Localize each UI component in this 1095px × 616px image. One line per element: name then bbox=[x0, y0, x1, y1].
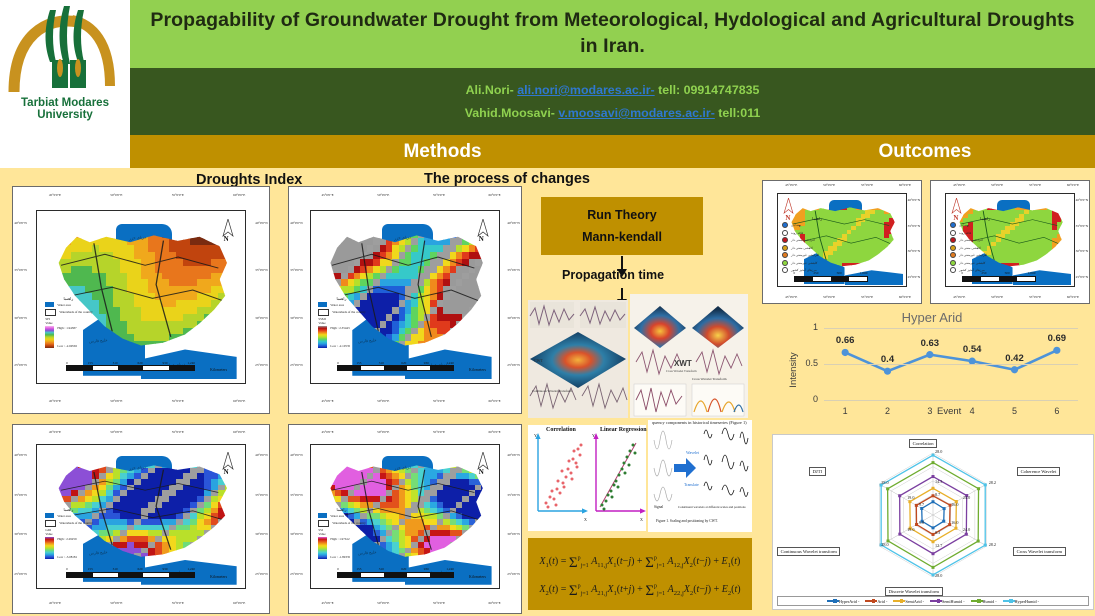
map-ssi: دریای خزرخلیج فارسدریای عمان N راهنما Wa… bbox=[288, 424, 522, 614]
svg-text:Cross Wavelet Transform: Cross Wavelet Transform bbox=[692, 377, 727, 381]
var-equations-box: X1(t) = Σpj=1 A11,jX1(t−j) + Σpj=1 A12,j… bbox=[528, 538, 752, 610]
methods-flow-box: Run Theory Mann-kendall bbox=[541, 197, 703, 255]
water-swatch-icon bbox=[318, 302, 327, 307]
legend-water-text: Water area bbox=[330, 303, 344, 307]
equation-1: X1(t) = Σpj=1 A11,jX1(t−j) + Σpj=1 A12,j… bbox=[539, 546, 740, 575]
svg-text:Figure 1. Scaling and position: Figure 1. Scaling and positioning by CWT… bbox=[656, 519, 718, 523]
lon-tick-top: 60°0'0"E bbox=[489, 430, 501, 434]
color-ramp-icon bbox=[318, 326, 327, 348]
lat-tick-left: 30°0'0"N bbox=[290, 316, 303, 320]
north-arrow-icon: N bbox=[477, 219, 490, 245]
lat-tick-right: 25°0'0"N bbox=[507, 572, 520, 576]
author-1-tel: tell: 09914747835 bbox=[658, 83, 759, 97]
radar-legend-label: SemiArid - bbox=[905, 599, 924, 604]
radar-tick-value: 16.0 bbox=[951, 520, 958, 525]
water-swatch-icon bbox=[45, 302, 54, 307]
watershed-swatch-icon bbox=[318, 520, 329, 527]
lat-tick-left: 40°0'0"N bbox=[290, 453, 303, 457]
lat-tick-right: 35°0'0"N bbox=[908, 224, 921, 228]
scalebar-unit: Kilometers bbox=[469, 368, 486, 372]
title-banner: Propagability of Groundwater Drought fro… bbox=[130, 0, 1095, 68]
scalebar-tick: 310 bbox=[113, 567, 118, 571]
lat-tick-right: 30°0'0"N bbox=[507, 532, 520, 536]
radar-tick-value: 24.0 bbox=[963, 495, 970, 500]
lat-tick-left: 40°0'0"N bbox=[14, 221, 27, 225]
lat-tick-left: 25°0'0"N bbox=[290, 363, 303, 367]
radar-tick-value: 28.2 bbox=[989, 542, 996, 547]
lon-tick-top: 55°0'0"E bbox=[172, 193, 184, 197]
legend-low: Low : -1.89335 bbox=[330, 555, 350, 559]
outcome-legend-text: افزایشی غیرمعنی دار bbox=[959, 253, 987, 257]
svg-text:Continuous Wavelet Transform: Continuous Wavelet Transform bbox=[532, 389, 572, 393]
lon-tick-bottom: 60°0'0"E bbox=[489, 399, 501, 403]
map-spi: دریای خزرخلیج فارسدریای عمان N راهنما Wa… bbox=[12, 186, 270, 414]
lat-tick-left: 40°0'0"N bbox=[14, 453, 27, 457]
lon-tick-top: 60°0'0"E bbox=[233, 430, 245, 434]
poster-root: Tarbiat Modares University Propagability… bbox=[0, 0, 1095, 616]
contact-row-2: Vahid.Moosavi- v.moosavi@modares.ac.ir- … bbox=[465, 106, 761, 120]
propagation-radar-chart: CorrelationCoherence WaveletCross Wavele… bbox=[772, 434, 1094, 610]
legend-swatch-icon bbox=[782, 222, 788, 228]
scalebar-tick: 0 bbox=[66, 567, 68, 571]
scalebar-tick: 0 bbox=[962, 271, 964, 275]
legend-water-text: Water area bbox=[57, 514, 71, 518]
legend-marker-icon bbox=[833, 599, 836, 602]
scalebar-tick: 1,000 bbox=[1028, 271, 1036, 275]
chart-xtick: 2 bbox=[878, 406, 898, 416]
lon-tick-bottom: 60°0'0"E bbox=[1067, 295, 1079, 299]
radar-axis-label: DJTI bbox=[809, 467, 826, 476]
map-canvas: Nراهنما پهنه آبی فاقد روند افزایشی معنی … bbox=[777, 193, 907, 287]
lat-tick-left: 30°0'0"N bbox=[14, 532, 27, 536]
legend-low: Low : -2.69565 bbox=[57, 344, 77, 348]
svg-text:X: X bbox=[640, 517, 643, 522]
scalebar-tick: 155 bbox=[88, 361, 93, 365]
chart-data-label: 0.54 bbox=[955, 344, 989, 355]
scalebar-unit: Kilometers bbox=[469, 575, 486, 579]
lon-tick-top: 60°0'0"E bbox=[1067, 183, 1079, 187]
lon-tick-bottom: 55°0'0"E bbox=[433, 399, 445, 403]
section-banner-outcomes: Outcomes bbox=[755, 135, 1095, 168]
svg-text:Y: Y bbox=[592, 433, 595, 438]
lat-tick-right: 25°0'0"N bbox=[255, 363, 268, 367]
lon-tick-top: 45°0'0"E bbox=[321, 193, 333, 197]
flow-mann-kendall: Mann-kendall bbox=[582, 230, 662, 244]
lon-tick-bottom: 55°0'0"E bbox=[861, 295, 873, 299]
legend-swatch-icon bbox=[950, 260, 956, 266]
radar-tick-value: 28.2 bbox=[989, 480, 996, 485]
lat-tick-right: 25°0'0"N bbox=[1076, 275, 1089, 279]
map-legend: راهنما Water area Watersheds of the coun… bbox=[318, 507, 408, 560]
radar-legend-item: SemiHumid - bbox=[930, 599, 965, 604]
legend-high: High : 2.35443 bbox=[330, 326, 350, 330]
scalebar-tick: 500 bbox=[837, 271, 842, 275]
outcome-legend-text: کاهشی معنی دار bbox=[959, 246, 981, 250]
radar-tick-value: 28.0 bbox=[935, 573, 942, 578]
scatter-title-correlation: Correlation bbox=[546, 427, 576, 433]
lat-tick-right: 25°0'0"N bbox=[908, 275, 921, 279]
lon-tick-bottom: 50°0'0"E bbox=[991, 295, 1003, 299]
scalebar-tick: 250 bbox=[981, 271, 986, 275]
north-arrow-icon: N bbox=[477, 452, 490, 478]
outcome-legend-row: کاهشی معنی دار bbox=[782, 245, 853, 251]
equation-2: X2(t) = Σpj=1 A21,jX1(t+j) + Σpj=1 A22,j… bbox=[539, 574, 740, 603]
svg-text:Wavelet: Wavelet bbox=[686, 450, 700, 455]
lon-tick-bottom: 50°0'0"E bbox=[377, 399, 389, 403]
outcome-trend-map-2: Nراهنما پهنه آبی فاقد روند افزایشی معنی … bbox=[930, 180, 1090, 304]
cwt-note: quency components in historical timeseri… bbox=[652, 420, 752, 425]
legend-swatch-icon bbox=[950, 252, 956, 258]
outcome-legend-text: کاهشی معنی دار bbox=[791, 246, 813, 250]
lat-tick-left: 25°0'0"N bbox=[14, 572, 27, 576]
chart-ytick: 1 bbox=[802, 322, 818, 332]
legend-swatch-icon bbox=[950, 237, 956, 243]
lon-tick-bottom: 60°0'0"E bbox=[489, 601, 501, 605]
radar-legend-label: HyperArid - bbox=[839, 599, 860, 604]
chart-data-label: 0.63 bbox=[913, 338, 947, 349]
legend-value-label: Value bbox=[45, 321, 145, 325]
lon-tick-top: 50°0'0"E bbox=[377, 430, 389, 434]
lat-tick-right: 35°0'0"N bbox=[507, 493, 520, 497]
legend-high: High : 2.29259 bbox=[57, 537, 77, 541]
radar-tick-value: 19.0 bbox=[907, 527, 914, 532]
lon-tick-bottom: 45°0'0"E bbox=[953, 295, 965, 299]
lat-tick-right: 30°0'0"N bbox=[255, 316, 268, 320]
legend-watershed-row: Watersheds of the country bbox=[45, 520, 145, 527]
chart-xtick: 6 bbox=[1047, 406, 1067, 416]
lat-tick-left: 30°0'0"N bbox=[14, 316, 27, 320]
radar-tick-value: 28.0 bbox=[935, 449, 942, 454]
legend-swatch-icon bbox=[782, 245, 788, 251]
svg-text:Translate: Translate bbox=[684, 482, 699, 487]
legend-swatch-icon bbox=[950, 230, 956, 236]
radar-axis-label: Correlation bbox=[909, 439, 937, 448]
legend-swatch-icon bbox=[782, 252, 788, 258]
subhead-process-of-changes: The process of changes bbox=[424, 171, 590, 187]
outcome-legend-row: افزایشی معنی دار bbox=[782, 237, 853, 243]
radar-legend-item: Arid - bbox=[865, 599, 887, 604]
lon-tick-top: 60°0'0"E bbox=[489, 193, 501, 197]
legend-title: راهنما bbox=[950, 216, 990, 221]
radar-tick-value: 28.0 bbox=[881, 480, 888, 485]
radar-tick-value: 19.0 bbox=[907, 495, 914, 500]
scalebar-tick: 1,240 bbox=[187, 567, 195, 571]
lon-tick-top: 55°0'0"E bbox=[861, 183, 873, 187]
water-label: دریای خزر bbox=[394, 234, 411, 240]
outcome-trend-map-1: Nراهنما پهنه آبی فاقد روند افزایشی معنی … bbox=[762, 180, 922, 304]
radar-legend-item: Humid - bbox=[971, 599, 997, 604]
flow-arrow-2 bbox=[621, 288, 623, 300]
radar-legend-item: HyperHumid - bbox=[1003, 599, 1039, 604]
lat-tick-right: 40°0'0"N bbox=[507, 453, 520, 457]
svg-text:Cross Wavelet Transform: Cross Wavelet Transform bbox=[666, 369, 697, 373]
legend-ramp-row: High : 1.94387 Low : -2.69565 bbox=[45, 326, 145, 348]
scalebar-unit: Kilometers bbox=[210, 368, 227, 372]
svg-text:CWT: CWT bbox=[534, 358, 543, 363]
legend-marker-icon bbox=[900, 599, 903, 602]
outcome-legend-row: افزایشی غیرمعنی دار bbox=[782, 252, 853, 258]
logo-line1: Tarbiat Modares bbox=[21, 97, 109, 109]
lat-tick-right: 40°0'0"N bbox=[255, 453, 268, 457]
legend-watershed-row: Watersheds of the country bbox=[318, 309, 408, 316]
legend-title: راهنما bbox=[318, 296, 346, 301]
map-sdi: دریای خزرخلیج فارسدریای عمان N راهنما Wa… bbox=[288, 186, 522, 414]
legend-swatch-icon bbox=[950, 222, 956, 228]
chart-gridline bbox=[824, 328, 1078, 329]
lon-tick-bottom: 45°0'0"E bbox=[321, 601, 333, 605]
legend-watershed-text: Watersheds of the country bbox=[59, 310, 92, 314]
logo-art-icon bbox=[6, 2, 124, 97]
lat-tick-right: 40°0'0"N bbox=[908, 198, 921, 202]
radar-tick-value: 14.3 bbox=[935, 479, 942, 484]
color-ramp-icon bbox=[45, 537, 54, 559]
lon-tick-top: 55°0'0"E bbox=[433, 193, 445, 197]
radar-tick-value: 9.7 bbox=[919, 502, 924, 507]
lon-tick-bottom: 45°0'0"E bbox=[321, 399, 333, 403]
scalebar-tick: 0 bbox=[337, 567, 339, 571]
section-banner-methods: Methods bbox=[130, 135, 755, 168]
radar-plot-area: CorrelationCoherence WaveletCross Wavele… bbox=[773, 435, 1093, 609]
lon-tick-bottom: 55°0'0"E bbox=[172, 601, 184, 605]
cwt-figure-image: CWT Continuous Wavelet Transform bbox=[528, 300, 628, 418]
radar-tick-value: 9.8 bbox=[919, 520, 924, 525]
outcome-legend-row: فاقد روند bbox=[782, 230, 853, 236]
color-ramp-icon bbox=[318, 537, 327, 559]
svg-text:XWT: XWT bbox=[674, 359, 692, 368]
legend-water-row: Water area bbox=[45, 513, 145, 518]
legend-swatch-icon bbox=[782, 237, 788, 243]
scale-bar: 02505001,000 bbox=[794, 271, 868, 281]
scale-bar: 01553106209301,240 Kilometers bbox=[66, 361, 195, 371]
scale-bar: 01553106209301,240 Kilometers bbox=[337, 567, 454, 577]
lon-tick-bottom: 50°0'0"E bbox=[110, 601, 122, 605]
logo-text: Tarbiat Modares University bbox=[21, 97, 109, 122]
lon-tick-bottom: 60°0'0"E bbox=[899, 295, 911, 299]
var-equations: X1(t) = Σpj=1 A11,jX1(t−j) + Σpj=1 A12,j… bbox=[539, 546, 740, 603]
legend-water-row: Water area bbox=[45, 302, 145, 307]
outcomes-title: Outcomes bbox=[879, 141, 972, 163]
legend-marker-icon bbox=[1009, 599, 1012, 602]
lat-tick-right: 30°0'0"N bbox=[1076, 249, 1089, 253]
legend-ramp-row: High : 1.97612 Low : -1.89335 bbox=[318, 537, 408, 559]
scalebar-tick: 1,240 bbox=[446, 567, 454, 571]
radar-tick-value: 12.7 bbox=[935, 543, 942, 548]
chart-data-label: 0.66 bbox=[828, 335, 862, 346]
correlation-regression-figure: Y Y X X bbox=[528, 425, 646, 531]
north-arrow-icon: N bbox=[222, 219, 235, 245]
lon-tick-top: 50°0'0"E bbox=[823, 183, 835, 187]
legend-water-text: Water area bbox=[57, 303, 71, 307]
radar-legend-label: HyperHumid - bbox=[1015, 599, 1040, 604]
radar-tick-value: 24.0 bbox=[963, 527, 970, 532]
lon-tick-top: 60°0'0"E bbox=[233, 193, 245, 197]
radar-axis-label: Cross Wavelet transform bbox=[1013, 547, 1066, 556]
outcome-legend-row: کاهشی غیرمعنی دار bbox=[782, 260, 853, 266]
legend-value-label: Value bbox=[318, 532, 408, 536]
scatter-title-regression: Linear Regression bbox=[600, 427, 647, 433]
radar-axis-label: Coherence Wavelet bbox=[1017, 467, 1060, 476]
outcome-legend-row: کاهشی معنی دار bbox=[950, 245, 1021, 251]
lon-tick-bottom: 55°0'0"E bbox=[172, 399, 184, 403]
map-legend: راهنما Water area Watersheds of the coun… bbox=[45, 507, 145, 560]
lon-tick-top: 50°0'0"E bbox=[110, 430, 122, 434]
lat-tick-left: 25°0'0"N bbox=[14, 363, 27, 367]
lat-tick-left: 35°0'0"N bbox=[290, 493, 303, 497]
legend-title: راهنما bbox=[318, 507, 346, 512]
watershed-swatch-icon bbox=[45, 520, 56, 527]
lon-tick-bottom: 50°0'0"E bbox=[823, 295, 835, 299]
scalebar-tick: 930 bbox=[162, 567, 167, 571]
lat-tick-right: 25°0'0"N bbox=[507, 363, 520, 367]
scale-bar: 01553106209301,240 Kilometers bbox=[66, 567, 195, 577]
poster-header: Tarbiat Modares University Propagability… bbox=[0, 0, 1095, 135]
radar-axis-label: Continuous Wavelet transform bbox=[777, 547, 840, 556]
lat-tick-left: 30°0'0"N bbox=[290, 532, 303, 536]
map-legend: راهنما Water area Watersheds of the coun… bbox=[318, 296, 408, 349]
map-canvas: دریای خزرخلیج فارسدریای عمان N راهنما Wa… bbox=[36, 210, 246, 384]
lon-tick-top: 45°0'0"E bbox=[321, 430, 333, 434]
outcome-legend-row: کاهشی غیرمعنی دار bbox=[950, 260, 1021, 266]
water-label: دریای خزر bbox=[128, 464, 145, 470]
svg-text:Constituent wavelets at differ: Constituent wavelets at different scales… bbox=[678, 505, 746, 509]
outcome-legend-row: فاقد روند bbox=[950, 230, 1021, 236]
legend-marker-icon bbox=[937, 599, 940, 602]
chart-gridline bbox=[824, 400, 1078, 401]
outcome-legend-text: فاقد روند bbox=[791, 231, 803, 235]
author-1-email-link[interactable]: ali.nori@modares.ac.ir- bbox=[517, 83, 654, 97]
legend-ramp-row: High : 2.29259 Low : -3.08181 bbox=[45, 537, 145, 559]
lon-tick-top: 50°0'0"E bbox=[991, 183, 1003, 187]
scalebar-tick: 620 bbox=[138, 567, 143, 571]
lat-tick-right: 40°0'0"N bbox=[1076, 198, 1089, 202]
legend-marker-icon bbox=[872, 599, 875, 602]
lon-tick-top: 60°0'0"E bbox=[899, 183, 911, 187]
legend-swatch-icon bbox=[782, 267, 788, 273]
legend-high: High : 1.97612 bbox=[330, 537, 350, 541]
lon-tick-top: 55°0'0"E bbox=[172, 430, 184, 434]
svg-text:X: X bbox=[584, 517, 587, 522]
map-canvas: دریای خزرخلیج فارسدریای عمان N راهنما Wa… bbox=[310, 210, 500, 384]
author-1-name: Ali.Nori- bbox=[466, 83, 514, 97]
lon-tick-top: 50°0'0"E bbox=[377, 193, 389, 197]
legend-low: Low : -2.10535 bbox=[330, 344, 350, 348]
outcome-legend-text: پهنه آبی bbox=[959, 223, 969, 227]
lon-tick-bottom: 45°0'0"E bbox=[49, 601, 61, 605]
scalebar-tick: 310 bbox=[379, 567, 384, 571]
lat-tick-left: 35°0'0"N bbox=[290, 268, 303, 272]
svg-text:Y: Y bbox=[534, 433, 537, 438]
watershed-swatch-icon bbox=[45, 309, 56, 316]
author-2-tel: tell:011 bbox=[718, 106, 760, 120]
lat-tick-right: 35°0'0"N bbox=[1076, 224, 1089, 228]
lat-tick-right: 30°0'0"N bbox=[255, 532, 268, 536]
legend-watershed-row: Watersheds of the country bbox=[318, 520, 408, 527]
lat-tick-right: 30°0'0"N bbox=[908, 249, 921, 253]
legend-water-text: Water area bbox=[330, 514, 344, 518]
water-label: دریای خزر bbox=[128, 234, 145, 240]
scalebar-tick: 0 bbox=[337, 361, 339, 365]
outcome-legend-text: افزایشی معنی دار bbox=[959, 238, 983, 242]
scale-bar: 02505001,000 bbox=[962, 271, 1036, 281]
hyper-arid-line-chart: Hyper Arid Intensity 00.51123456Event0.6… bbox=[772, 308, 1092, 428]
map-canvas: دریای خزرخلیج فارسدریای عمان N راهنما Wa… bbox=[310, 444, 500, 589]
color-ramp-icon bbox=[45, 326, 54, 348]
legend-swatch-icon bbox=[950, 245, 956, 251]
legend-title: راهنما bbox=[45, 296, 73, 301]
scalebar-tick: 155 bbox=[356, 361, 361, 365]
legend-watershed-text: Watersheds of the country bbox=[59, 521, 92, 525]
radar-axis-label: Discrete Wavelet transform bbox=[885, 587, 943, 596]
legend-swatch-icon bbox=[950, 267, 956, 273]
outcome-legend-row: افزایشی معنی دار bbox=[950, 237, 1021, 243]
lon-tick-bottom: 55°0'0"E bbox=[1029, 295, 1041, 299]
lat-tick-right: 25°0'0"N bbox=[255, 572, 268, 576]
flow-run-theory: Run Theory bbox=[587, 208, 656, 222]
outcome-legend-text: پهنه آبی bbox=[791, 223, 801, 227]
lat-tick-left: 35°0'0"N bbox=[14, 268, 27, 272]
chart-title: Hyper Arid bbox=[772, 310, 1092, 325]
lon-tick-bottom: 60°0'0"E bbox=[233, 399, 245, 403]
scalebar-tick: 310 bbox=[113, 361, 118, 365]
author-2-email-link[interactable]: v.moosavi@modares.ac.ir- bbox=[558, 106, 714, 120]
lat-tick-right: 40°0'0"N bbox=[507, 221, 520, 225]
cwt-scaling-figure: Wavelet Translate Signal Constituent wav… bbox=[648, 420, 752, 532]
outcome-legend-text: فاقد روند bbox=[959, 231, 971, 235]
legend-value-label: Value bbox=[318, 321, 408, 325]
university-logo: Tarbiat Modares University bbox=[0, 0, 130, 135]
chart-data-label: 0.69 bbox=[1040, 333, 1074, 344]
legend-title: راهنما bbox=[782, 216, 822, 221]
outcome-legend-text: کاهشی غیرمعنی دار bbox=[959, 261, 985, 265]
lon-tick-top: 45°0'0"E bbox=[785, 183, 797, 187]
xwt-figure-image: XWT Cross Wavelet Transform Cross Wavele… bbox=[630, 294, 748, 418]
radar-tick-value: 16.0 bbox=[951, 502, 958, 507]
outcome-legend-row: پهنه آبی bbox=[782, 222, 853, 228]
scalebar-tick: 1,240 bbox=[187, 361, 195, 365]
lon-tick-bottom: 45°0'0"E bbox=[785, 295, 797, 299]
outcome-map-legend: راهنما پهنه آبی فاقد روند افزایشی معنی د… bbox=[782, 216, 853, 274]
water-swatch-icon bbox=[45, 513, 54, 518]
outcome-legend-row: افزایشی غیرمعنی دار bbox=[950, 252, 1021, 258]
watershed-swatch-icon bbox=[318, 309, 329, 316]
legend-marker-icon bbox=[977, 599, 980, 602]
lon-tick-top: 55°0'0"E bbox=[433, 430, 445, 434]
scalebar-unit: Kilometers bbox=[210, 575, 227, 579]
legend-low: Low : -3.08181 bbox=[57, 555, 77, 559]
legend-swatch-icon bbox=[782, 230, 788, 236]
outcome-legend-text: افزایشی معنی دار bbox=[791, 238, 815, 242]
svg-text:Signal: Signal bbox=[654, 505, 663, 509]
legend-ramp-row: High : 2.35443 Low : -2.10535 bbox=[318, 326, 408, 348]
legend-watershed-row: Watersheds of the country bbox=[45, 309, 145, 316]
scalebar-tick: 310 bbox=[379, 361, 384, 365]
map-gdi: دریای خزرخلیج فارسدریای عمان N راهنما Wa… bbox=[12, 424, 270, 614]
scalebar-tick: 0 bbox=[794, 271, 796, 275]
lon-tick-bottom: 50°0'0"E bbox=[377, 601, 389, 605]
scalebar-tick: 930 bbox=[162, 361, 167, 365]
legend-watershed-text: Watersheds of the country bbox=[332, 521, 365, 525]
chart-gridline bbox=[824, 364, 1078, 365]
chart-xtick: 1 bbox=[835, 406, 855, 416]
outcome-legend-row: پهنه آبی bbox=[950, 222, 1021, 228]
scale-bar: 01553106209301,240 Kilometers bbox=[337, 361, 454, 371]
lon-tick-top: 45°0'0"E bbox=[953, 183, 965, 187]
scalebar-tick: 155 bbox=[88, 567, 93, 571]
lon-tick-top: 55°0'0"E bbox=[1029, 183, 1041, 187]
radar-tick-value: 8.3 bbox=[935, 530, 940, 535]
scalebar-tick: 930 bbox=[424, 567, 429, 571]
chart-ylabel: Intensity bbox=[788, 353, 799, 388]
